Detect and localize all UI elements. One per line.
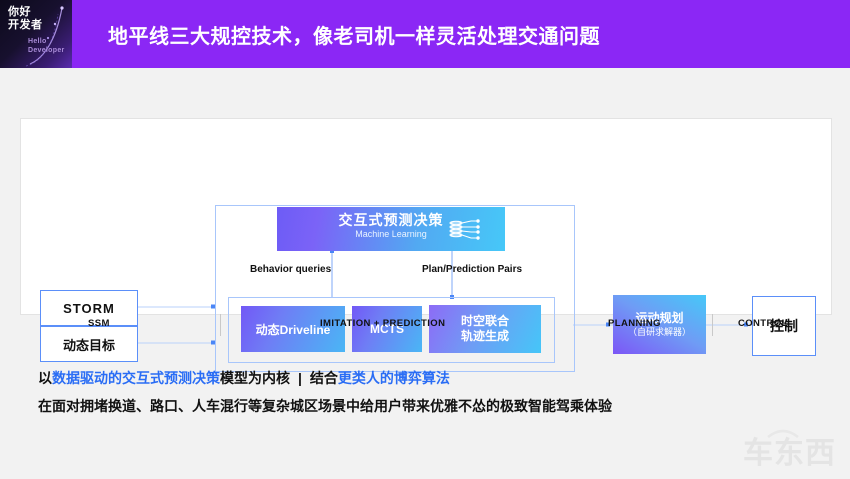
edge-label-plan-prediction-pairs: Plan/Prediction Pairs <box>422 264 522 275</box>
slide-body: 交互式预测决策 Machine Learning Behavior querie… <box>0 68 850 479</box>
page-title: 地平线三大规控技术，像老司机一样灵活处理交通问题 <box>108 0 600 68</box>
summary-l1-part2: 模型为内核 <box>220 370 290 386</box>
stage-label-ssm: SSM <box>88 318 110 329</box>
ml-box-text: 交互式预测决策 Machine Learning <box>321 212 461 240</box>
logo-cn-line1: 你好 <box>8 6 43 19</box>
ml-box-subtitle: Machine Learning <box>321 228 461 240</box>
summary-line-2: 在面对拥堵换道、路口、人车混行等复杂城区场景中给用户带来优雅不怂的极致智能驾乘体… <box>38 394 828 418</box>
interactive-prediction-decision-box[interactable]: 交互式预测决策 Machine Learning <box>277 207 505 251</box>
logo-cn-line2: 开发者 <box>8 19 43 32</box>
summary-l1-separator: | <box>290 370 310 386</box>
page-header: 你好 开发者 Hello Developer 地平线三大规控技术，像老司机一样灵… <box>0 0 850 68</box>
logo-en-line1: Hello <box>28 37 65 46</box>
logo-english-text: Hello Developer <box>28 37 65 55</box>
neural-network-icon <box>447 217 483 243</box>
stage-label-control: CONTROL <box>738 318 788 329</box>
summary-text: 以数据驱动的交互式预测决策模型为内核|结合更类人的博弈算法 在面对拥堵换道、路口… <box>38 367 828 418</box>
logo-en-line2: Developer <box>28 46 65 55</box>
summary-l1-blue1: 数据驱动的交互式预测决策 <box>52 370 220 386</box>
stage-label-imitation-prediction: IMITATION + PREDICTION <box>320 318 445 329</box>
summary-line-1: 以数据驱动的交互式预测决策模型为内核|结合更类人的博弈算法 <box>38 367 828 389</box>
logo-chinese-text: 你好 开发者 <box>8 6 43 32</box>
brand-logo: 你好 开发者 Hello Developer <box>0 0 72 68</box>
stage-divider-2 <box>712 314 713 336</box>
stage-labels-row: SSM IMITATION + PREDICTION PLANNING CONT… <box>20 318 830 348</box>
summary-l1-part1: 以 <box>38 370 52 386</box>
edge-label-behavior-queries: Behavior queries <box>250 264 331 275</box>
watermark: 车东西 <box>743 437 836 471</box>
input-box-storm-label: STORM <box>63 301 115 316</box>
stage-divider-1 <box>220 314 221 336</box>
summary-l1-blue2: 更类人的博弈算法 <box>338 370 450 386</box>
stage-label-planning: PLANNING <box>608 318 661 329</box>
summary-l1-part3: 结合 <box>310 370 338 386</box>
ml-box-title: 交互式预测决策 <box>321 212 461 228</box>
